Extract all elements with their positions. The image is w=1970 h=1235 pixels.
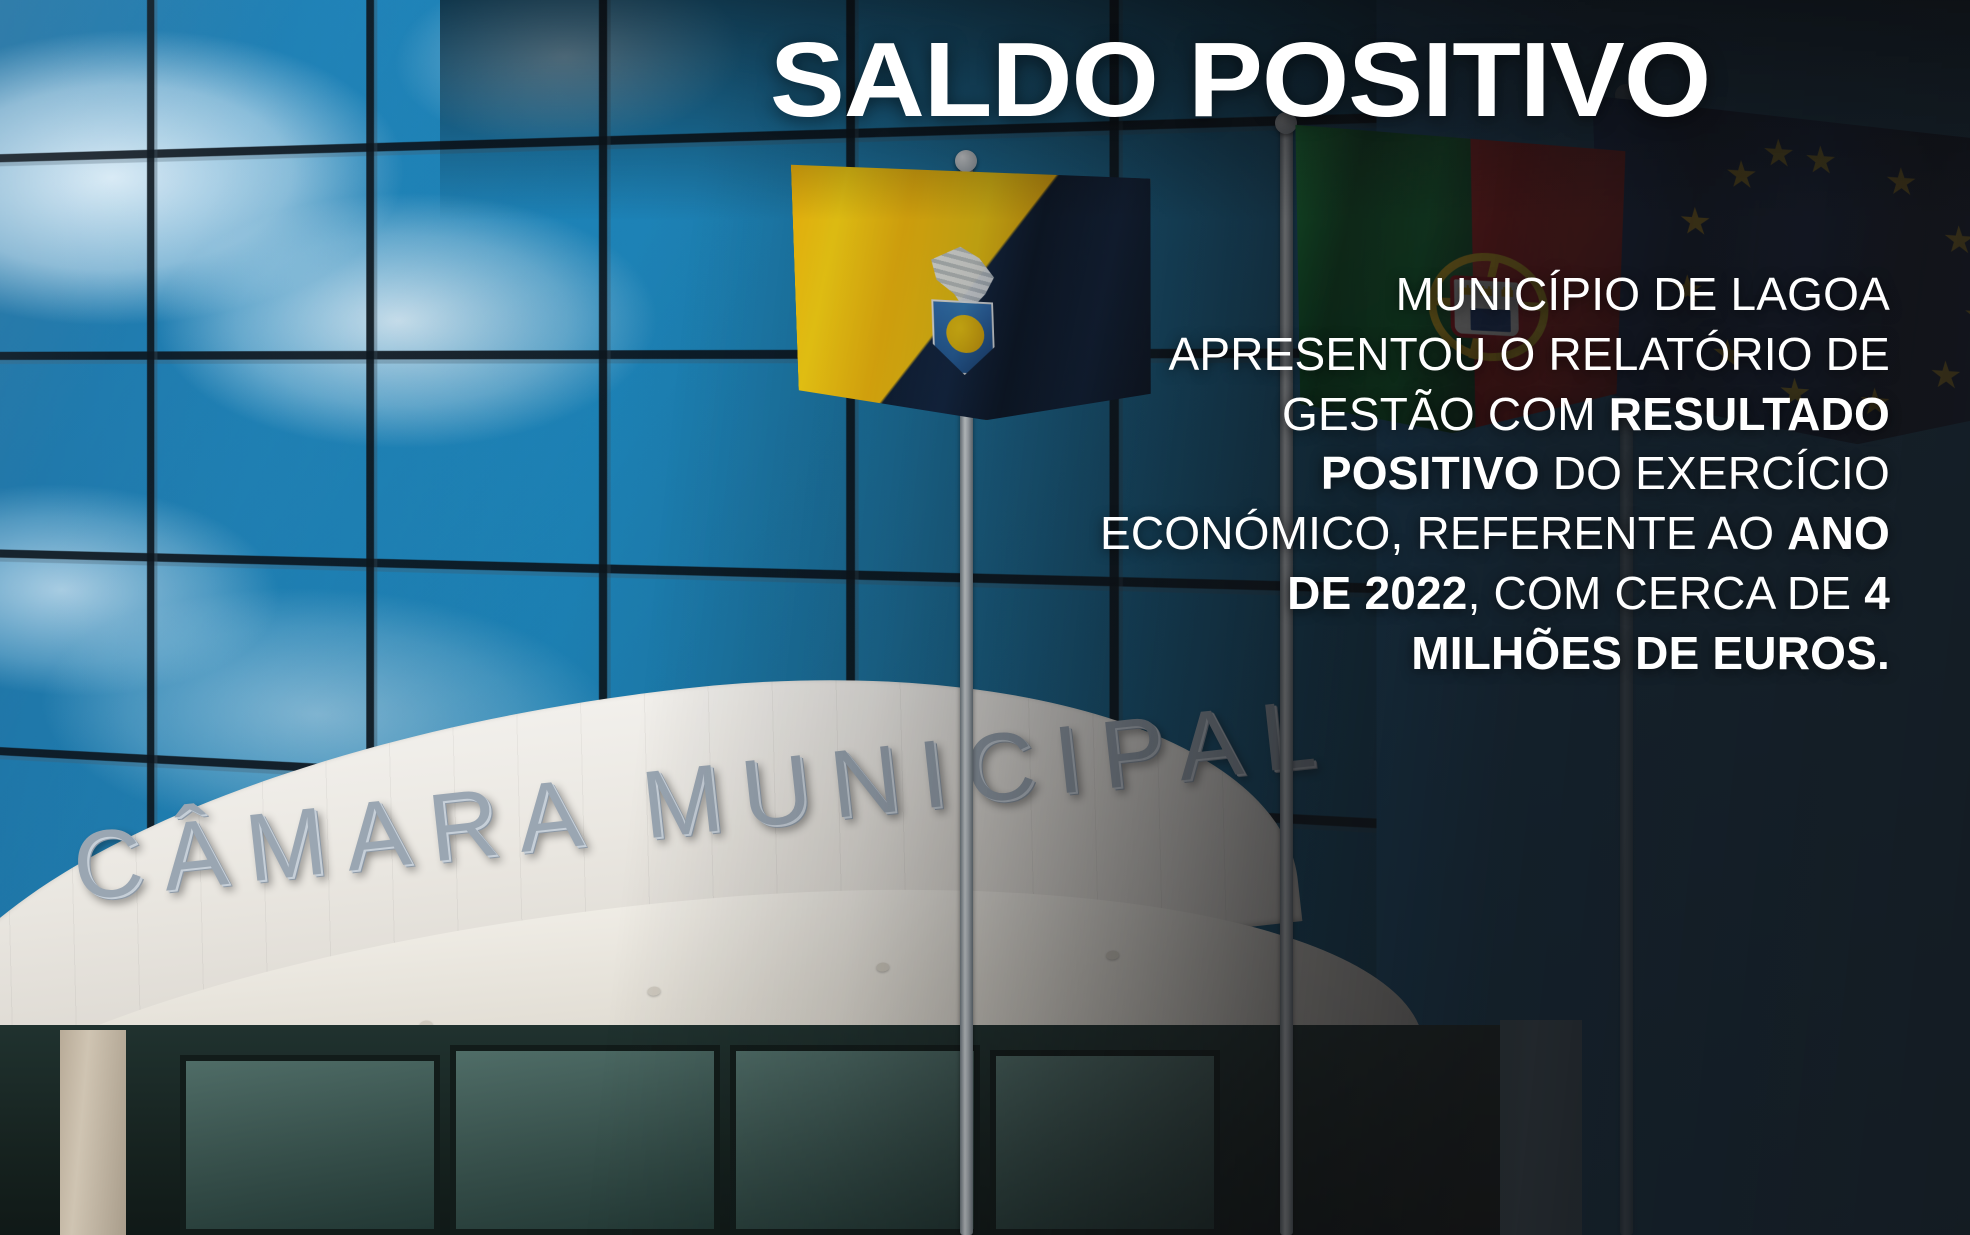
page-title: SALDO POSITIVO xyxy=(498,26,1970,134)
body-paragraph: MUNICÍPIO DE LAGOA APRESENTOU O RELATÓRI… xyxy=(1070,265,1890,684)
body-text: , COM CERCA DE xyxy=(1468,567,1865,619)
news-card-image: CÂMARA MUNICIPAL xyxy=(0,0,1970,1235)
